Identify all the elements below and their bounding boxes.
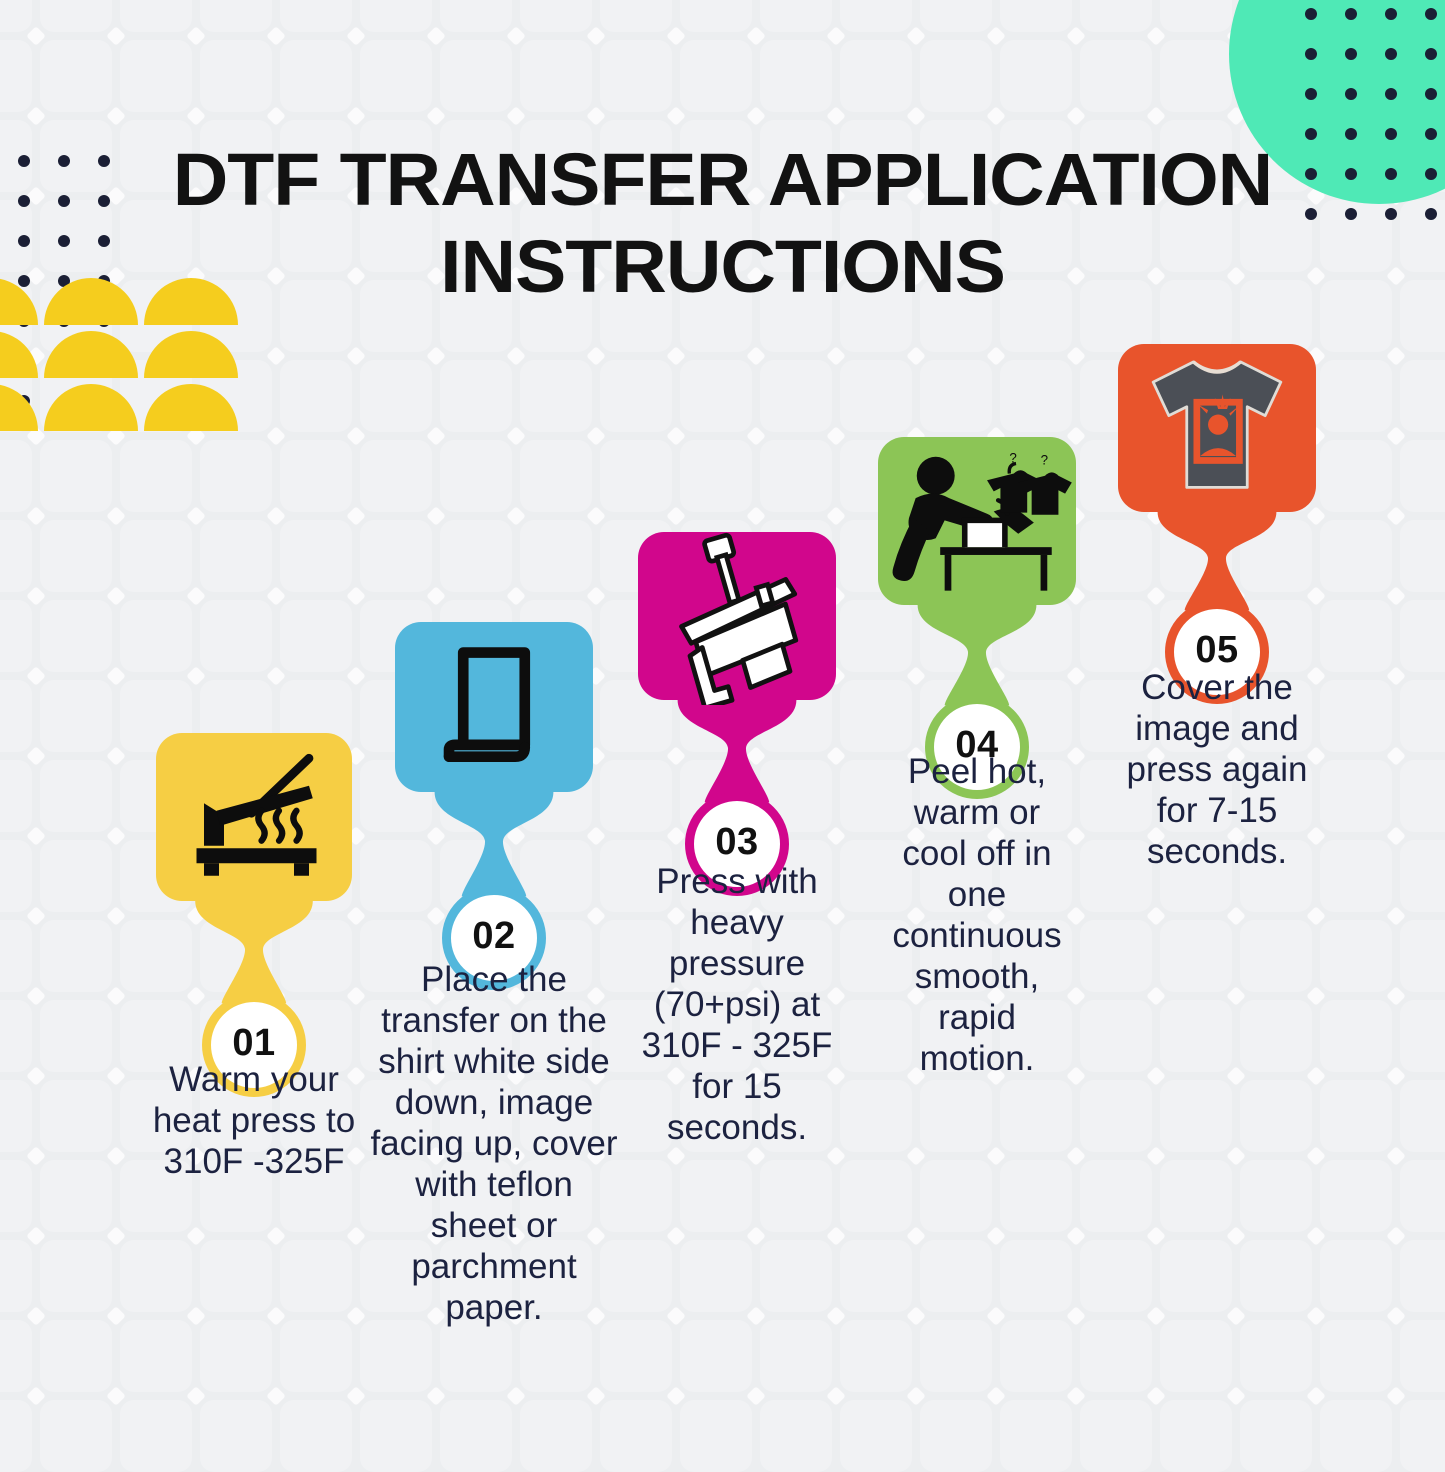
svg-text:?: ? xyxy=(1009,450,1016,465)
step-03[interactable]: 03 xyxy=(628,532,846,905)
step-description: Peel hot, warm or cool off in one contin… xyxy=(882,752,1072,1080)
step-description: Cover the image and press again for 7-15… xyxy=(1121,668,1313,873)
heat-press-machine-icon xyxy=(628,532,846,700)
step-description: Place the transfer on the shirt white si… xyxy=(369,960,619,1328)
step-description: Warm your heat press to 310F -325F xyxy=(136,1060,372,1183)
person-peeling-transfer-icon: ? ? xyxy=(868,437,1086,605)
step-number-badge: 02 xyxy=(385,915,603,958)
step-number-badge: 03 xyxy=(628,821,846,864)
step-number-badge: 05 xyxy=(1108,629,1326,672)
steps-container: 01Warm your heat press to 310F -325F 02P… xyxy=(0,0,1445,1445)
step-05[interactable]: 05 xyxy=(1108,344,1326,713)
step-01[interactable]: 01 xyxy=(146,733,362,1106)
svg-text:?: ? xyxy=(1041,452,1048,467)
step-number-badge: 01 xyxy=(146,1022,362,1065)
printed-tshirt-icon xyxy=(1108,344,1326,512)
step-02[interactable]: 02 xyxy=(385,622,603,999)
step-description: Press with heavy pressure (70+psi) at 31… xyxy=(629,862,845,1149)
heat-press-open-icon xyxy=(146,733,362,901)
transfer-sheet-icon xyxy=(385,622,603,792)
